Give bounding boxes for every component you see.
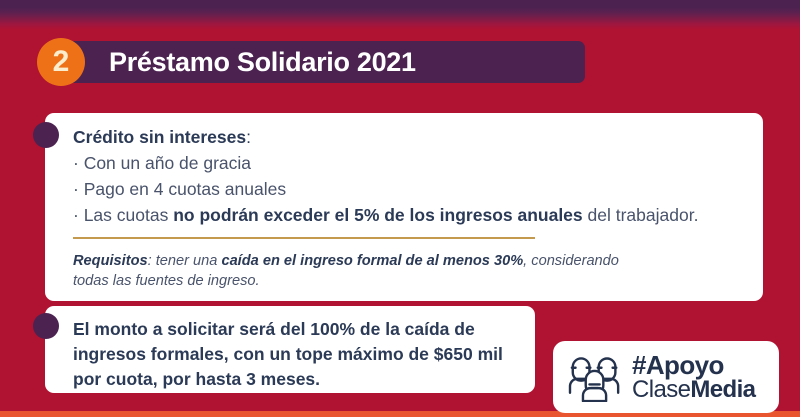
credit-lead-colon: :: [246, 127, 251, 147]
brand-logo: #Apoyo ClaseMedia: [553, 341, 779, 413]
step-number-badge: 2: [37, 38, 85, 86]
card-divider: [73, 237, 535, 239]
bullet-text: Pago en 4 cuotas anuales: [79, 179, 286, 199]
list-item: · Con un año de gracia: [73, 151, 749, 177]
credit-lead-bold: Crédito sin intereses: [73, 127, 246, 147]
bullet-dot-card-two: [33, 313, 59, 339]
brand-line-two-bold: Media: [690, 376, 755, 403]
top-gradient-band: [0, 0, 800, 32]
requisitos-note: Requisitos: tener una caída en el ingres…: [73, 251, 633, 292]
page-title: Préstamo Solidario 2021: [109, 47, 416, 78]
bullet-dot-card-one: [33, 122, 59, 148]
requisitos-emphasis: caída en el ingreso formal de al menos 3…: [221, 253, 523, 269]
requisitos-label: Requisitos: [73, 253, 148, 269]
credit-card-body: Crédito sin intereses: · Con un año de g…: [73, 125, 749, 229]
amount-card-text: El monto a solicitar será del 100% de la…: [73, 317, 525, 392]
credit-lead-line: Crédito sin intereses:: [73, 125, 749, 150]
bullet-text: Las cuotas: [79, 205, 173, 225]
header-title-bar: Préstamo Solidario 2021: [61, 41, 585, 83]
bullet-text-emphasis: no podrán exceder el 5% de los ingresos …: [173, 205, 582, 225]
requisitos-separator: : tener una: [148, 253, 222, 269]
credit-bullet-list: · Con un año de gracia · Pago en 4 cuota…: [73, 151, 749, 228]
bullet-text: Con un año de gracia: [79, 153, 251, 173]
info-card-amount: El monto a solicitar será del 100% de la…: [45, 306, 535, 393]
brand-line-two-light: Clase: [632, 376, 690, 403]
brand-line-two: ClaseMedia: [632, 378, 755, 402]
people-group-icon: [567, 352, 623, 402]
info-card-credit: Crédito sin intereses: · Con un año de g…: [45, 113, 763, 301]
list-item: · Las cuotas no podrán exceder el 5% de …: [73, 203, 749, 229]
brand-line-one: #Apoyo: [632, 352, 755, 379]
brand-logo-text: #Apoyo ClaseMedia: [632, 352, 755, 403]
list-item: · Pago en 4 cuotas anuales: [73, 177, 749, 203]
bullet-text-tail: del trabajador.: [583, 205, 699, 225]
